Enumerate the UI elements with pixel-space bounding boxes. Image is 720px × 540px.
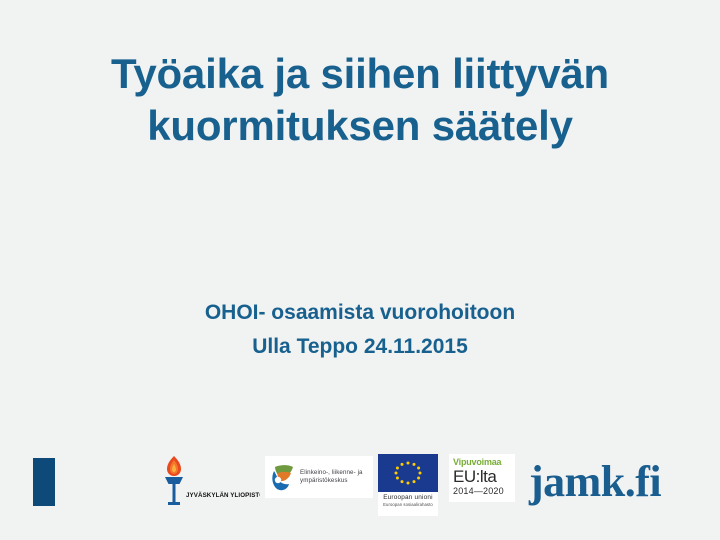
vipuvoimaa-eulta-logo: Vipuvoimaa EU:lta 2014—2020: [449, 454, 515, 502]
accent-bar-decoration: [33, 458, 55, 506]
subtitle-line-2: Ulla Teppo 24.11.2015: [40, 330, 680, 364]
ely-label-line-2: ympäristökeskus: [300, 477, 363, 485]
jyvaskylan-yliopisto-logo: JYVÄSKYLÄN YLIOPISTO: [152, 452, 260, 508]
ely-keskus-label: Elinkeino-, liikenne- ja ympäristökeskus: [300, 469, 363, 485]
subtitle-line-1: OHOI- osaamista vuorohoitoon: [40, 296, 680, 330]
footer-logo-bar: JYVÄSKYLÄN YLIOPISTO Elinkeino-, liikenn…: [0, 440, 720, 540]
ely-keskus-logo: Elinkeino-, liikenne- ja ympäristökeskus: [265, 456, 373, 498]
eu-subcaption: Euroopan sosiaalirahasto: [378, 502, 438, 508]
european-union-logo: Euroopan unioni Euroopan sosiaalirahasto: [378, 454, 438, 516]
title-line-2: kuormituksen säätely: [40, 100, 680, 152]
title-line-1: Työaika ja siihen liittyvän: [40, 48, 680, 100]
page-title: Työaika ja siihen liittyvän kuormituksen…: [40, 48, 680, 152]
eu-caption: Euroopan unioni: [378, 492, 438, 502]
presentation-slide: Työaika ja siihen liittyvän kuormituksen…: [0, 0, 720, 540]
vipuvoimaa-years-label: 2014—2020: [453, 486, 511, 497]
svg-text:JYVÄSKYLÄN YLIOPISTO: JYVÄSKYLÄN YLIOPISTO: [186, 492, 260, 499]
slide-subtitle: OHOI- osaamista vuorohoitoon Ulla Teppo …: [40, 296, 680, 364]
ely-label-line-1: Elinkeino-, liikenne- ja: [300, 469, 363, 477]
ely-leaf-icon: [268, 461, 296, 493]
torch-icon: JYVÄSKYLÄN YLIOPISTO: [152, 452, 260, 508]
vipuvoimaa-middle-label: EU:lta: [453, 468, 511, 486]
eu-flag-icon: [378, 454, 438, 492]
jamk-fi-logo[interactable]: jamk.fi: [529, 458, 661, 506]
